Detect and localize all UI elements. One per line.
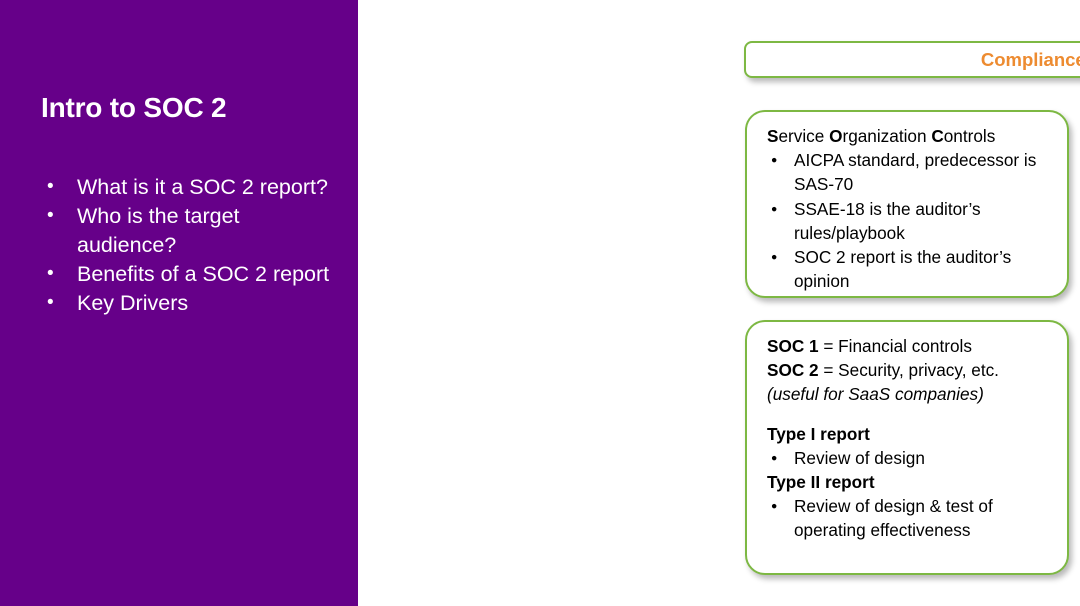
type2-heading: Type II report <box>767 470 1051 494</box>
type2-bullet-list: Review of design & test of operating eff… <box>767 494 1051 542</box>
list-item: Key Drivers <box>41 289 341 318</box>
page-title: Intro to SOC 2 <box>41 92 341 124</box>
soc1-line: SOC 1 = Financial controls <box>767 334 1051 358</box>
list-item: Benefits of a SOC 2 report <box>41 260 341 289</box>
spacer <box>767 407 1051 422</box>
list-item: SOC 2 report is the auditor’s opinion <box>767 245 1051 293</box>
list-item: SSAE-18 is the auditor’s rules/playbook <box>767 197 1051 245</box>
soc2-text: = Security, privacy, etc. <box>819 360 999 380</box>
list-item: Review of design & test of operating eff… <box>767 494 1051 542</box>
soc-types-content: SOC 1 = Financial controls SOC 2 = Secur… <box>747 322 1067 573</box>
type1-heading: Type I report <box>767 422 1051 446</box>
left-purple-panel: Intro to SOC 2 What is it a SOC 2 report… <box>0 0 358 606</box>
soc-heading-c: C <box>931 126 943 146</box>
soc2-line: SOC 2 = Security, privacy, etc. <box>767 358 1051 382</box>
soc-heading-s: S <box>767 126 778 146</box>
header-banner-title: Compliance ≠ Security <box>981 49 1080 71</box>
list-item: AICPA standard, predecessor is SAS-70 <box>767 148 1051 196</box>
right-content-area: Compliance ≠ Security Service Organizati… <box>358 0 1080 606</box>
saas-note: (useful for SaaS companies) <box>767 382 1051 406</box>
soc-definition-box: Service Organization Controls AICPA stan… <box>745 110 1069 298</box>
agenda-bullet-list: What is it a SOC 2 report? Who is the ta… <box>41 173 341 318</box>
type1-bullet-list: Review of design <box>767 446 1051 470</box>
soc-acronym-heading: Service Organization Controls <box>767 124 1051 148</box>
soc1-label: SOC 1 <box>767 336 819 356</box>
soc2-label: SOC 2 <box>767 360 819 380</box>
list-item: Review of design <box>767 446 1051 470</box>
soc-definition-bullet-list: AICPA standard, predecessor is SAS-70 SS… <box>767 148 1051 293</box>
soc-heading-ervice: ervice <box>778 126 829 146</box>
soc-definition-content: Service Organization Controls AICPA stan… <box>747 112 1067 296</box>
soc-heading-ontrols: ontrols <box>944 126 996 146</box>
soc1-text: = Financial controls <box>819 336 972 356</box>
soc-heading-rganization: rganization <box>842 126 931 146</box>
soc-heading-o: O <box>829 126 842 146</box>
list-item: Who is the target audience? <box>41 202 341 260</box>
soc-types-box: SOC 1 = Financial controls SOC 2 = Secur… <box>745 320 1069 575</box>
header-banner: Compliance ≠ Security <box>744 41 1080 78</box>
list-item: What is it a SOC 2 report? <box>41 173 341 202</box>
